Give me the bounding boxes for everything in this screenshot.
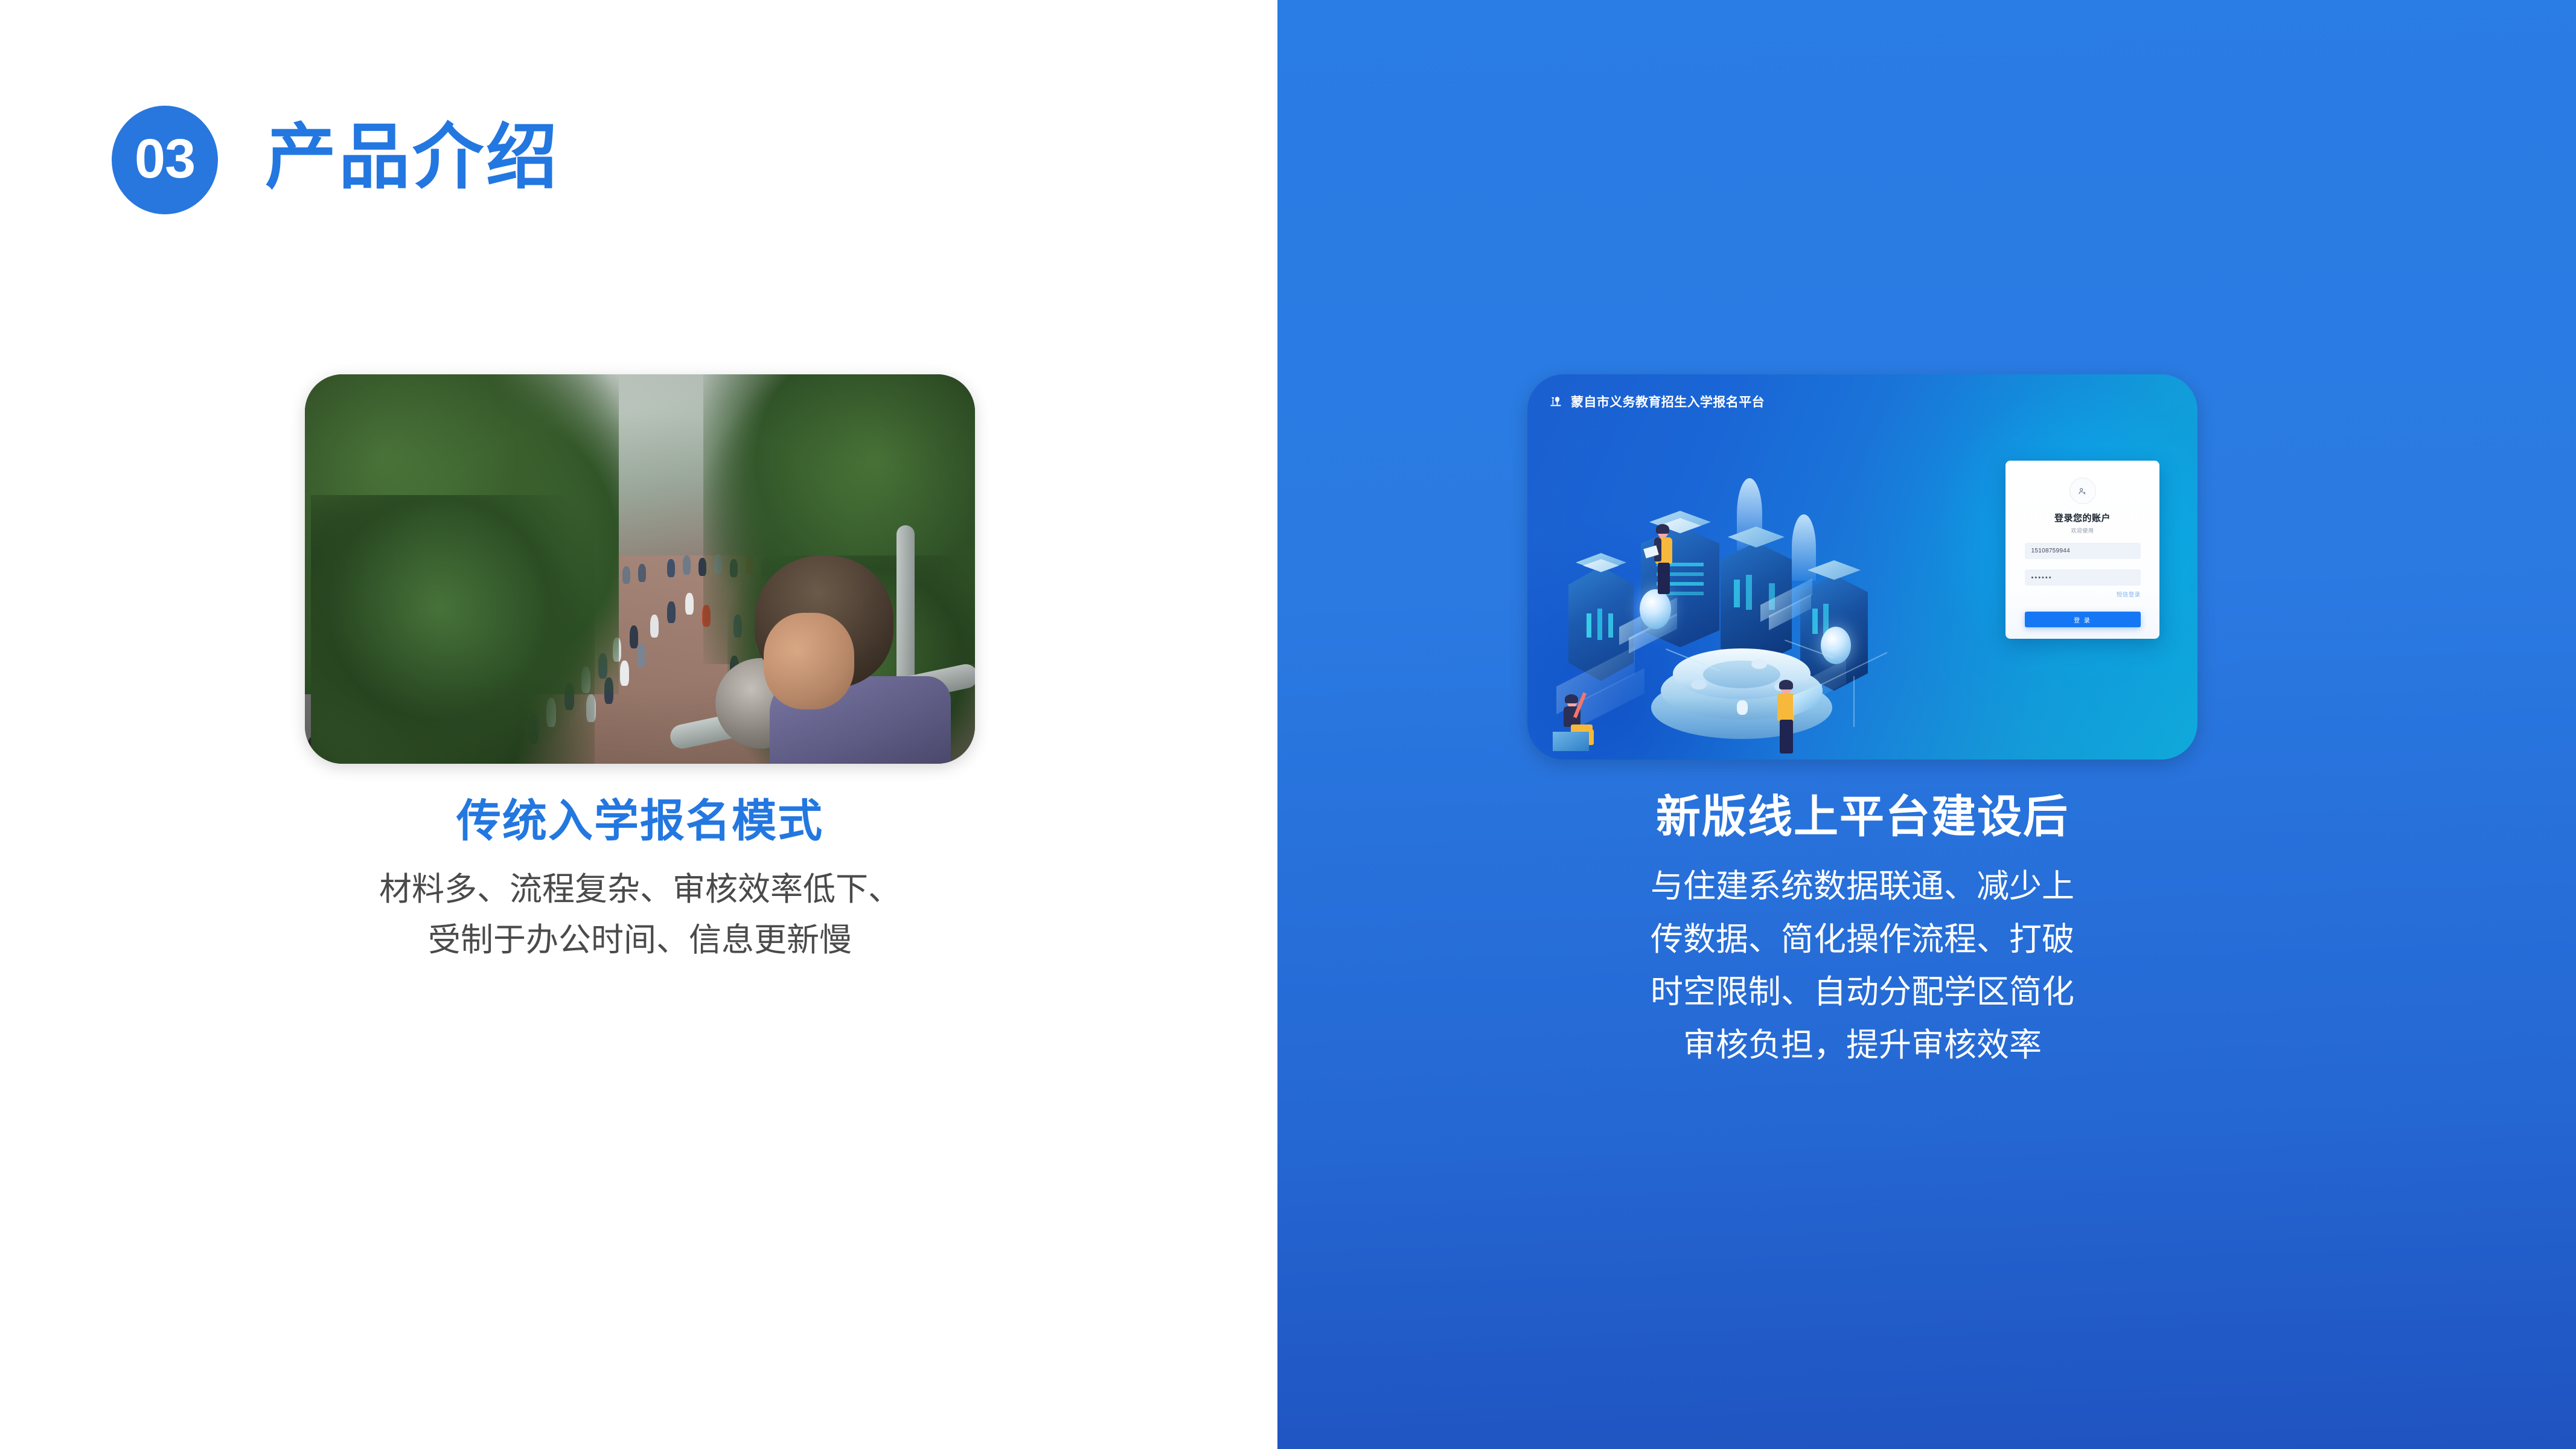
login-card: 登录您的账户 欢迎使用 15108759944 •••••• 短信登录 登 录 <box>2006 461 2159 639</box>
right-card-body-line: 时空限制、自动分配学区简化 <box>1527 966 2197 1019</box>
phone-input[interactable]: 15108759944 <box>2025 543 2141 559</box>
password-input-value: •••••• <box>2031 574 2053 581</box>
login-title: 登录您的账户 <box>2054 511 2111 524</box>
left-column: 传统入学报名模式 材料多、流程复杂、审核效率低下、 受制于办公时间、信息更新慢 <box>305 374 975 966</box>
monument-emblem-icon <box>1548 394 1564 410</box>
right-column: 蒙自市义务教育招生入学报名平台 <box>1527 374 2197 1072</box>
isometric-illustration <box>1539 495 1926 755</box>
phone-input-value: 15108759944 <box>2031 548 2070 554</box>
photo-vignette <box>305 374 975 764</box>
section-number-text: 03 <box>135 131 195 187</box>
right-card-title: 新版线上平台建设后 <box>1527 792 2197 841</box>
user-add-icon <box>2069 478 2096 504</box>
traditional-mode-photo <box>305 374 975 764</box>
page-title: 产品介绍 <box>265 122 560 193</box>
mockup-header: 蒙自市义务教育招生入学报名平台 <box>1548 392 1765 411</box>
right-card-body-line: 与住建系统数据联通、减少上 <box>1527 860 2197 913</box>
sms-login-link[interactable]: 短信登录 <box>2025 590 2141 598</box>
password-input[interactable]: •••••• <box>2025 569 2141 586</box>
slide-root: 03 产品介绍 <box>0 0 2576 1449</box>
right-card-body-line: 传数据、简化操作流程、打破 <box>1527 913 2197 966</box>
platform-screenshot-mockup: 蒙自市义务教育招生入学报名平台 <box>1527 374 2197 760</box>
left-card-body-line: 材料多、流程复杂、审核效率低下、 <box>305 865 975 915</box>
left-card-body: 材料多、流程复杂、审核效率低下、 受制于办公时间、信息更新慢 <box>305 865 975 965</box>
left-card-title: 传统入学报名模式 <box>305 796 975 845</box>
section-header: 03 产品介绍 <box>112 106 560 214</box>
right-card-body: 与住建系统数据联通、减少上 传数据、简化操作流程、打破 时空限制、自动分配学区简… <box>1527 860 2197 1072</box>
login-submit-button[interactable]: 登 录 <box>2025 612 2141 627</box>
login-subtitle: 欢迎使用 <box>2071 526 2094 534</box>
right-card-body-line: 审核负担，提升审核效率 <box>1527 1019 2197 1072</box>
left-card-body-line: 受制于办公时间、信息更新慢 <box>305 915 975 966</box>
section-number-badge: 03 <box>112 106 218 214</box>
mockup-brand-title: 蒙自市义务教育招生入学报名平台 <box>1571 392 1765 411</box>
